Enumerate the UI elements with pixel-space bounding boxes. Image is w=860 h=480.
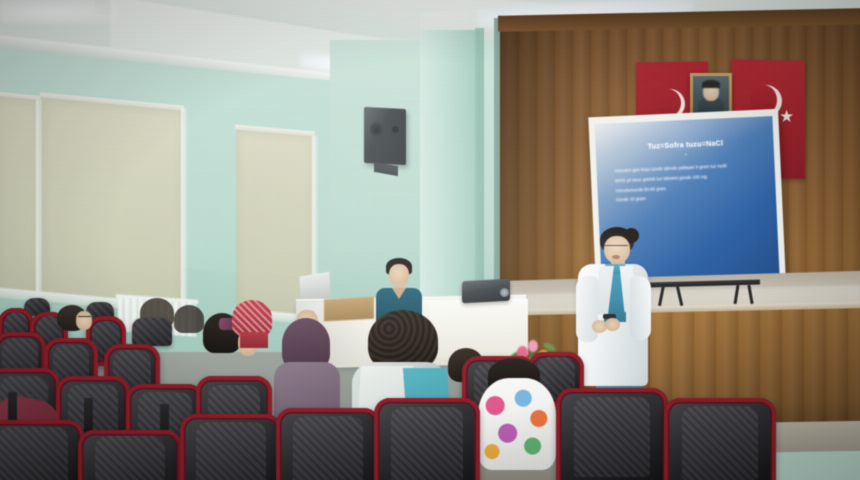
auditorium-seat: [78, 430, 182, 480]
cardboard-box: [324, 297, 374, 322]
fluorescent-light: [0, 0, 120, 24]
audience-neck: [240, 332, 268, 348]
speaker-tweeter-icon: [392, 126, 399, 133]
auditorium-seat: [0, 420, 84, 480]
laptop: [299, 272, 330, 303]
seat-headrest: [132, 318, 172, 346]
auditorium-seat: [556, 388, 668, 480]
window-blind: [41, 97, 183, 315]
glasses-icon: [78, 316, 91, 321]
star-icon: ★: [779, 108, 794, 125]
flower-petal: [528, 340, 538, 352]
auditorium-seat: [180, 414, 282, 480]
window-blind: [0, 96, 40, 300]
window-light-gap: [36, 100, 42, 311]
glasses-icon: [604, 245, 628, 251]
auditorium-seat: [276, 408, 380, 480]
speaker-cone-icon: [370, 122, 383, 138]
photo-scene: ★ ★ Tuz=Sofra tuzu=NaCl • Vücudun gün bo…: [0, 0, 860, 480]
projector-lens-icon: [500, 288, 509, 297]
presenter-table-right: [430, 299, 528, 357]
audience-headscarf-floral: [478, 378, 556, 470]
presenter-arm: [630, 276, 651, 340]
portrait-hair: [702, 80, 720, 88]
auditorium-seat: [664, 398, 776, 480]
audience-headscarf-red: [232, 300, 272, 336]
window-light-gap: [181, 108, 187, 314]
audience-head: [174, 305, 204, 333]
auditorium-seat: [374, 398, 480, 480]
presenter-hand: [605, 318, 620, 331]
wall-speaker: [364, 107, 406, 165]
